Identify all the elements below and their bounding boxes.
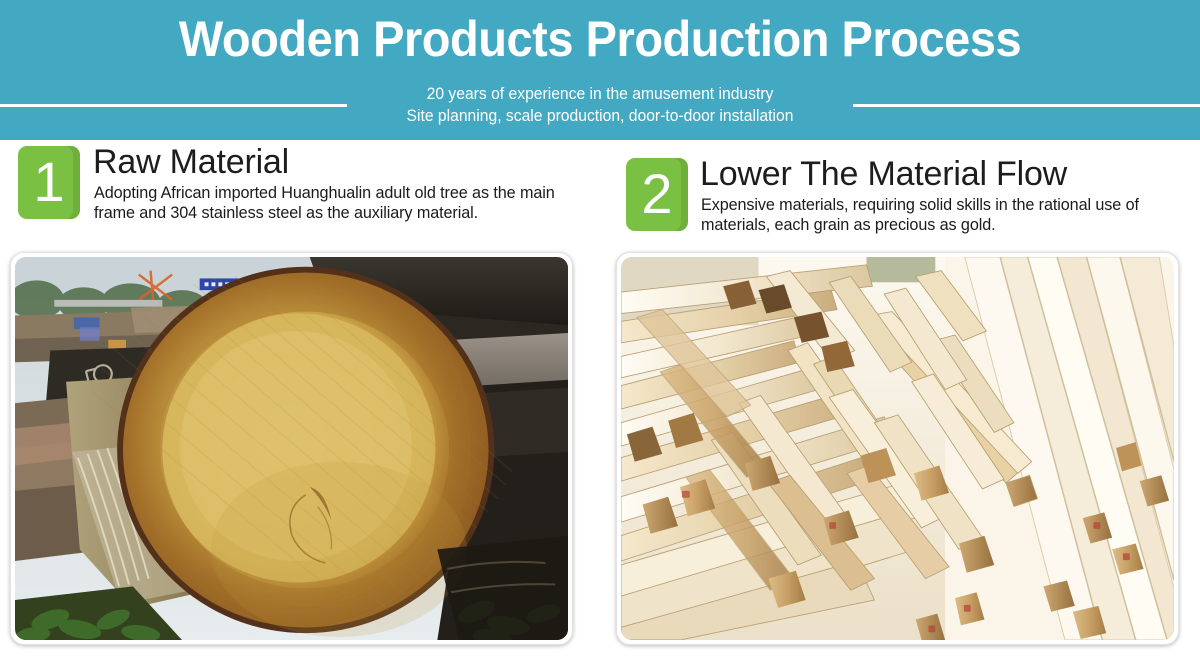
banner-subtitle-line-2: Site planning, scale production, door-to… xyxy=(30,105,1170,127)
infographic-page: Wooden Products Production Process 20 ye… xyxy=(0,0,1200,660)
step-title-1: Raw Material xyxy=(93,143,289,181)
photo-felled-log-artwork xyxy=(15,257,568,640)
photo-sawn-timber-battens xyxy=(616,252,1179,645)
step-number-badge-1: 1 xyxy=(18,146,80,219)
step-body-1: Adopting African imported Huanghualin ad… xyxy=(94,184,579,223)
step-body-2: Expensive materials, requiring solid ski… xyxy=(701,196,1169,235)
banner-rule-left xyxy=(0,104,347,107)
step-title-2: Lower The Material Flow xyxy=(700,155,1067,193)
page-title: Wooden Products Production Process xyxy=(36,8,1164,70)
banner-rule-right xyxy=(853,104,1200,107)
page-banner: Wooden Products Production Process 20 ye… xyxy=(0,0,1200,140)
banner-subtitle-line-1: 20 years of experience in the amusement … xyxy=(30,83,1170,105)
photo-sawn-timber-artwork xyxy=(621,257,1174,640)
photo-felled-log-cross-section xyxy=(10,252,573,645)
step-number-badge-2: 2 xyxy=(626,158,688,231)
